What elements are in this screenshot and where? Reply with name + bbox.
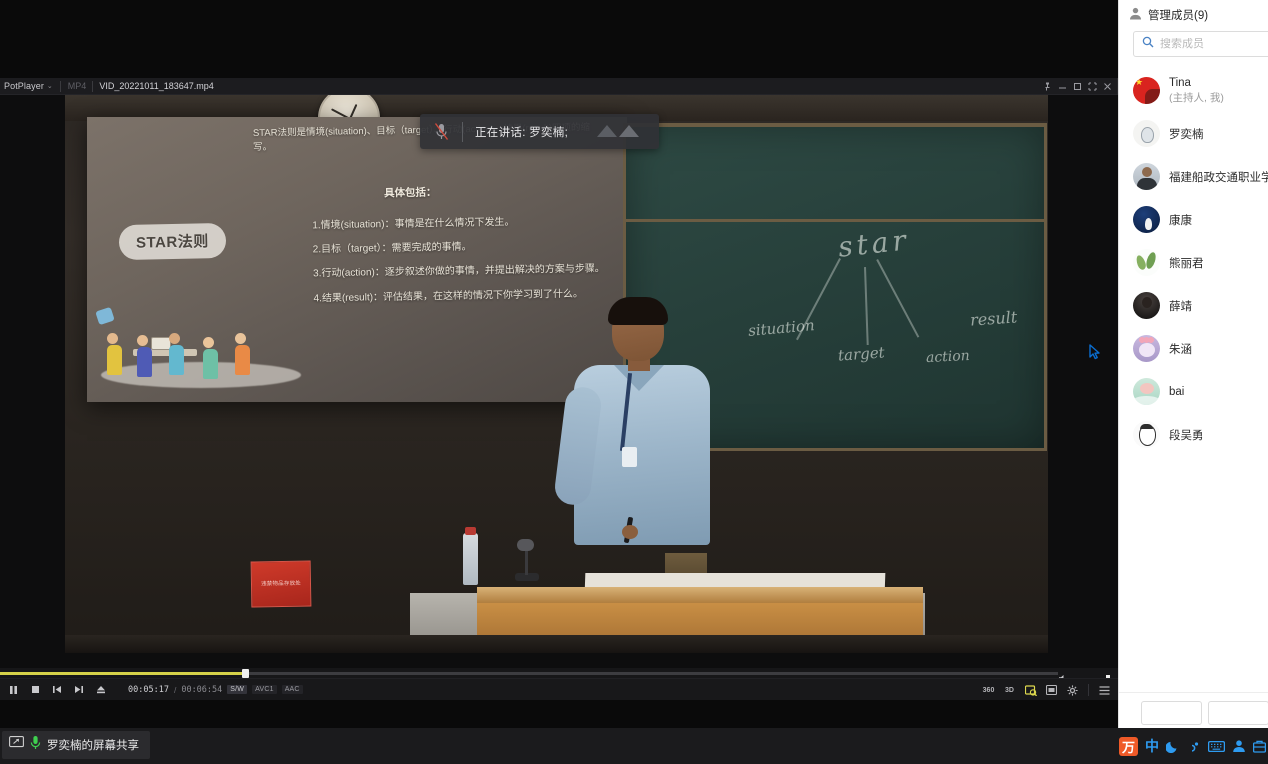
seek-handle[interactable] bbox=[242, 669, 249, 678]
bookmark-icon[interactable] bbox=[1021, 680, 1040, 700]
restore-icon[interactable] bbox=[1085, 78, 1100, 95]
maximize-icon[interactable] bbox=[1070, 78, 1085, 95]
chalk-word: target bbox=[837, 343, 885, 364]
slide-bullet: 3.行动(action)：逐步叙述你做的事情，并提出解决的方案与步骤。 bbox=[287, 263, 607, 283]
footer-action-button-2[interactable] bbox=[1208, 701, 1268, 725]
search-input[interactable] bbox=[1160, 38, 1268, 50]
chalk-word: situation bbox=[747, 316, 815, 340]
eject-button[interactable] bbox=[90, 680, 112, 700]
seek-row bbox=[0, 668, 1118, 678]
taskbar-item-screen-share[interactable]: 罗奕楠的屏幕共享 bbox=[2, 731, 150, 759]
video-codec-tag: AVC1 bbox=[252, 685, 277, 694]
avatar bbox=[1133, 292, 1160, 319]
controls-divider bbox=[1088, 684, 1089, 696]
taskbar: 罗奕楠的屏幕共享 万 中 bbox=[0, 728, 1268, 764]
avatar bbox=[1133, 206, 1160, 233]
slide-illustration bbox=[95, 287, 315, 397]
chalk-word: action bbox=[926, 348, 971, 366]
microphone-head bbox=[517, 539, 534, 551]
person-icon[interactable] bbox=[1232, 739, 1246, 753]
slide-bullet: 1.情境(situation)：事情是在什么情况下发生。 bbox=[286, 214, 606, 234]
time-separator: / bbox=[174, 685, 176, 695]
keyboard-icon[interactable] bbox=[1208, 740, 1225, 753]
titlebar-divider-2 bbox=[92, 81, 93, 92]
transport-row: 00:05:17 / 00:06:54 S/W AVC1 AAC 360 3D bbox=[0, 678, 1118, 700]
floor-strip bbox=[65, 635, 1048, 653]
avatar bbox=[1133, 378, 1160, 405]
moon-icon[interactable] bbox=[1166, 739, 1180, 753]
member-count-label: 管理成员(9) bbox=[1148, 7, 1208, 23]
avatar bbox=[1133, 163, 1160, 190]
potplayer-brand-label: PotPlayer bbox=[4, 81, 44, 91]
member-name: 段吴勇 bbox=[1169, 427, 1204, 443]
member-role: (主持人, 我) bbox=[1169, 90, 1224, 105]
toolbox-icon[interactable] bbox=[1253, 739, 1266, 753]
member-name: 薛靖 bbox=[1169, 298, 1192, 314]
decoder-tag: S/W bbox=[227, 685, 247, 694]
member-search-box[interactable] bbox=[1133, 31, 1268, 57]
member-panel-header: 管理成员(9) bbox=[1119, 0, 1268, 28]
list-item[interactable]: 康康 bbox=[1119, 198, 1268, 241]
red-sign-text: 违禁物品存放处 bbox=[257, 579, 305, 588]
avatar bbox=[1133, 335, 1160, 362]
mic-muted-icon bbox=[420, 122, 462, 141]
avatar bbox=[1133, 120, 1160, 147]
vr-360-icon[interactable]: 360 bbox=[979, 680, 998, 700]
3d-icon[interactable]: 3D bbox=[1000, 680, 1019, 700]
menu-icon[interactable] bbox=[1095, 680, 1114, 700]
chalk-word: result bbox=[969, 307, 1017, 329]
slide-subheading: 具体包括： bbox=[384, 185, 437, 201]
list-item[interactable]: 段吴勇 bbox=[1119, 413, 1268, 456]
current-time-label: 00:05:17 bbox=[128, 685, 169, 695]
list-item[interactable]: bai bbox=[1119, 370, 1268, 413]
avatar bbox=[1133, 249, 1160, 276]
screen-root: PotPlayer ⌄ MP4 VID_20221011_183647.mp4 bbox=[0, 0, 1268, 764]
red-notice-sign: 违禁物品存放处 bbox=[251, 560, 312, 607]
list-item[interactable]: 朱涵 bbox=[1119, 327, 1268, 370]
mouse-cursor bbox=[1089, 344, 1100, 365]
minimize-icon[interactable] bbox=[1055, 78, 1070, 95]
total-time-label: 00:06:54 bbox=[181, 685, 222, 695]
chevron-down-icon[interactable]: ⌄ bbox=[47, 82, 53, 90]
list-item[interactable]: 熊丽君 bbox=[1119, 241, 1268, 284]
audio-codec-tag: AAC bbox=[282, 685, 303, 694]
list-item[interactable]: 福建船政交通职业学 bbox=[1119, 155, 1268, 198]
video-frame: STAR法则 STAR法则是情境(situation)、目标（target）、行… bbox=[65, 95, 1048, 653]
time-display: 00:05:17 / 00:06:54 S/W AVC1 AAC bbox=[128, 685, 303, 695]
system-tray: 万 中 bbox=[1119, 728, 1268, 764]
previous-button[interactable] bbox=[46, 680, 68, 700]
bottle-cap bbox=[465, 527, 476, 535]
microphone-arm bbox=[525, 547, 528, 575]
member-name: 熊丽君 bbox=[1169, 255, 1204, 271]
media-filename-label: VID_20221011_183647.mp4 bbox=[99, 81, 213, 91]
player-control-bar: 00:05:17 / 00:06:54 S/W AVC1 AAC 360 3D bbox=[0, 668, 1118, 686]
member-name: 朱涵 bbox=[1169, 341, 1192, 357]
lecturer-figure bbox=[552, 301, 732, 561]
projection-screen: STAR法则 STAR法则是情境(situation)、目标（target）、行… bbox=[87, 117, 627, 402]
seek-progress-fill bbox=[0, 672, 245, 675]
settings-icon[interactable] bbox=[1063, 680, 1082, 700]
member-list: Tina (主持人, 我) 罗奕楠 福建船政交通职业学 康康 bbox=[1119, 69, 1268, 456]
list-item[interactable]: 薛靖 bbox=[1119, 284, 1268, 327]
titlebar-divider bbox=[60, 81, 61, 92]
stop-button[interactable] bbox=[24, 680, 46, 700]
member-name: 康康 bbox=[1169, 212, 1192, 228]
member-name: 罗奕楠 bbox=[1169, 126, 1204, 142]
avatar bbox=[1133, 77, 1160, 104]
speaking-indicator: 正在讲话: 罗奕楠; bbox=[420, 114, 659, 149]
microphone-icon bbox=[30, 735, 41, 755]
ime-language-toggle[interactable]: 中 bbox=[1145, 736, 1159, 756]
avatar bbox=[1133, 421, 1160, 448]
search-icon bbox=[1142, 35, 1154, 53]
taskbar-item-label: 罗奕楠的屏幕共享 bbox=[47, 737, 139, 753]
member-name: Tina bbox=[1169, 77, 1224, 89]
pause-button[interactable] bbox=[2, 680, 24, 700]
close-icon[interactable] bbox=[1100, 78, 1115, 95]
person-icon bbox=[1129, 7, 1142, 23]
water-bottle bbox=[463, 533, 478, 585]
speaking-label: 正在讲话: 罗奕楠; bbox=[475, 124, 568, 140]
member-panel: 管理成员(9) Tina (主持人, 我) bbox=[1118, 0, 1268, 728]
window-controls bbox=[1040, 78, 1115, 95]
member-panel-footer bbox=[1119, 692, 1268, 728]
slide-bullet: 2.目标（target）：需要完成的事情。 bbox=[287, 238, 607, 258]
potplayer-window: PotPlayer ⌄ MP4 VID_20221011_183647.mp4 bbox=[0, 78, 1118, 686]
pin-icon[interactable] bbox=[1040, 78, 1055, 95]
ime-logo-icon[interactable]: 万 bbox=[1119, 737, 1138, 756]
chalk-word: star bbox=[836, 223, 911, 263]
media-format-label: MP4 bbox=[68, 81, 87, 91]
screen-share-icon bbox=[9, 736, 24, 754]
lectern-top bbox=[477, 587, 923, 603]
screen-icon[interactable] bbox=[1042, 680, 1061, 700]
member-name: 福建船政交通职业学 bbox=[1169, 169, 1268, 185]
footer-action-button-1[interactable] bbox=[1141, 701, 1202, 725]
list-item[interactable]: Tina (主持人, 我) bbox=[1119, 69, 1268, 112]
member-name: bai bbox=[1169, 386, 1184, 398]
slide-badge: STAR法则 bbox=[119, 223, 226, 260]
tencent-meeting-logo bbox=[595, 121, 645, 143]
potplayer-titlebar[interactable]: PotPlayer ⌄ MP4 VID_20221011_183647.mp4 bbox=[0, 78, 1117, 95]
speaking-divider bbox=[462, 122, 463, 142]
list-item[interactable]: 罗奕楠 bbox=[1119, 112, 1268, 155]
right-controls: 360 3D bbox=[979, 679, 1114, 701]
video-surface[interactable]: STAR法则 STAR法则是情境(situation)、目标（target）、行… bbox=[0, 95, 1118, 668]
comma-icon[interactable] bbox=[1187, 739, 1201, 753]
next-button[interactable] bbox=[68, 680, 90, 700]
